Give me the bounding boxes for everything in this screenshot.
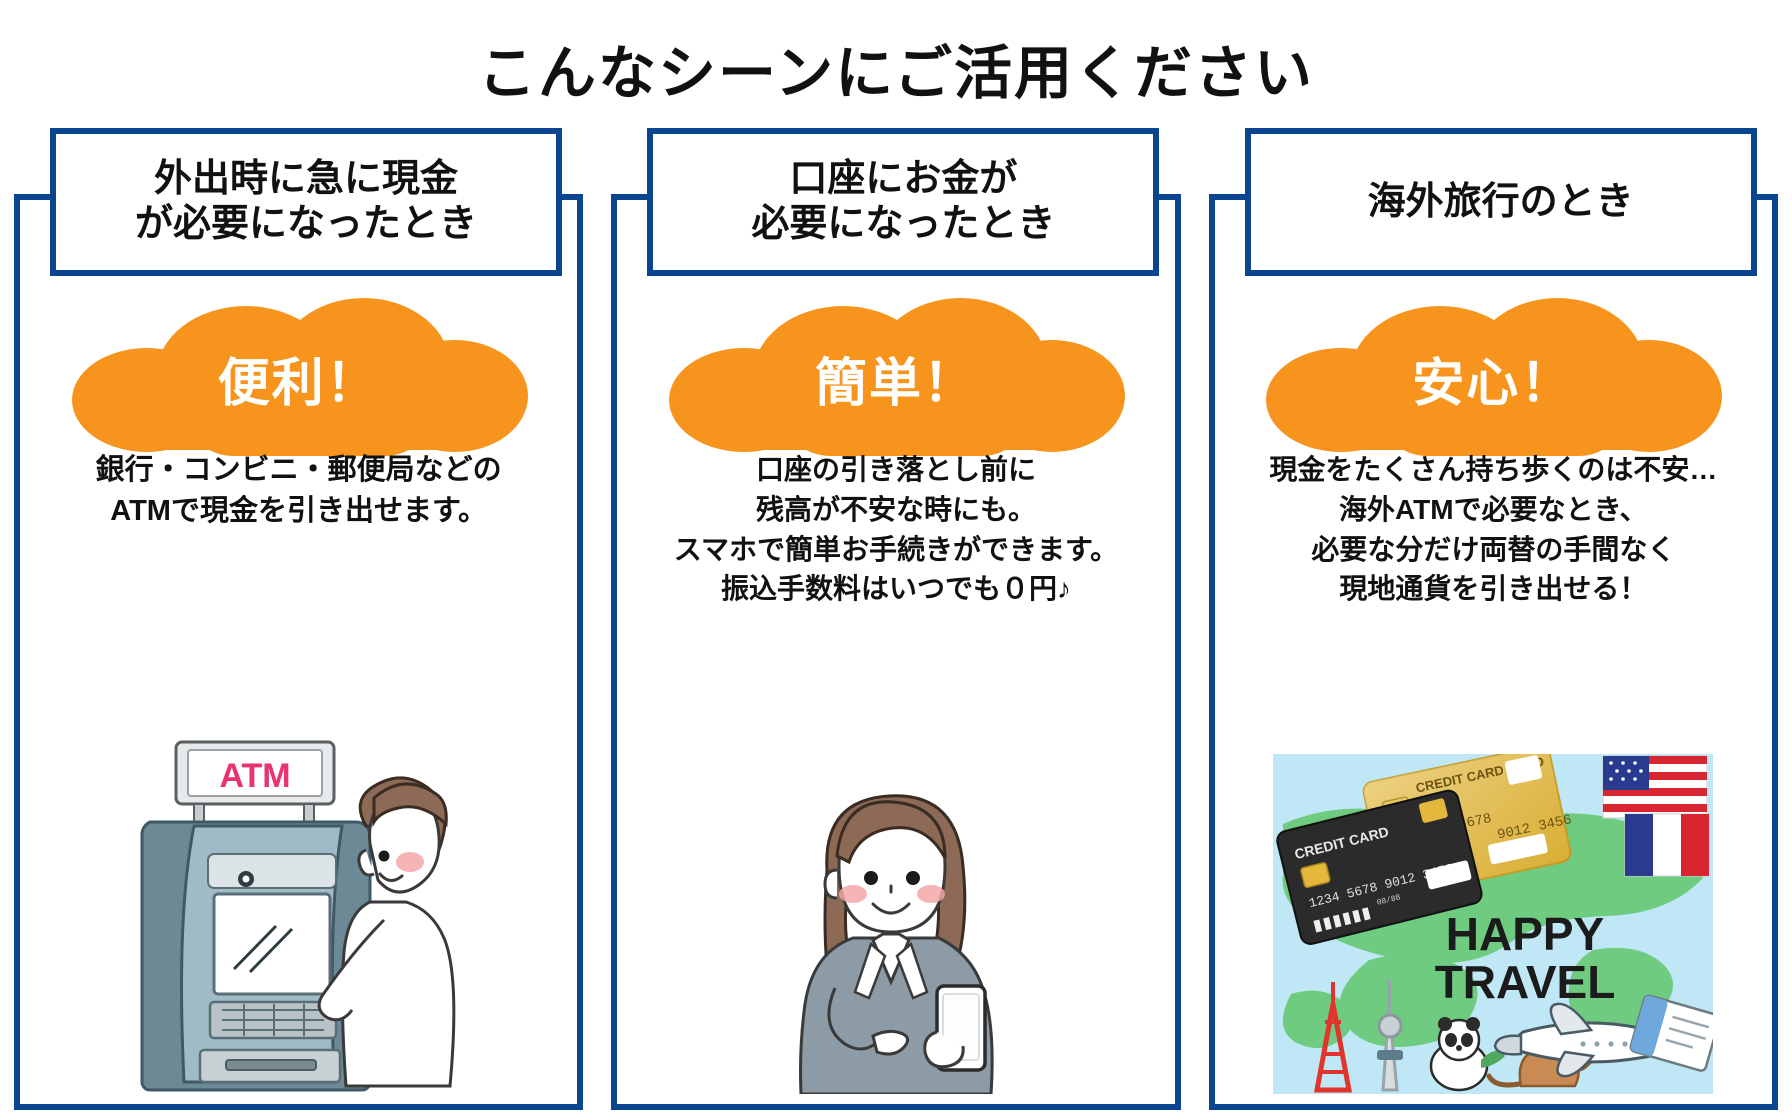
panel-atm-cash: 外出時に急に現金 が必要になったとき 便利！ 銀行・コンビニ・郵便局などの AT… <box>14 200 583 1110</box>
panel-header-text: 海外旅行のとき <box>1368 180 1634 225</box>
atm-machine-body <box>142 822 370 1090</box>
atm-sign-icon: ATM <box>176 742 334 822</box>
panel-body-text: 現金をたくさん持ち歩くのは不安… 海外ATMで必要なとき、 必要な分だけ両替の手… <box>1215 450 1772 609</box>
panel-body-text: 銀行・コンビニ・郵便局などの ATMで現金を引き出せます。 <box>20 450 577 532</box>
usa-flag-icon <box>1603 756 1707 818</box>
svg-text:ATM: ATM <box>219 757 290 795</box>
panel-account-funds: 口座にお金が 必要になったとき 簡単！ 口座の引き落とし前に 残高が不安な時にも… <box>611 200 1180 1110</box>
woman-with-smartphone-illustration <box>761 774 1031 1094</box>
panel-header-text: 外出時に急に現金 が必要になったとき <box>135 157 477 247</box>
panel-header-box: 海外旅行のとき <box>1245 128 1757 276</box>
travel-headline-line1: HAPPY <box>1446 908 1604 960</box>
panel-header-text: 口座にお金が 必要になったとき <box>751 157 1055 247</box>
atm-illustration: ATM <box>134 734 464 1094</box>
cloud-badge: 便利！ <box>64 296 534 446</box>
panels-container: 外出時に急に現金 が必要になったとき 便利！ 銀行・コンビニ・郵便局などの AT… <box>14 200 1778 1110</box>
cloud-badge: 安心！ <box>1258 296 1728 446</box>
cloud-badge-label: 便利！ <box>64 296 534 446</box>
france-flag-icon <box>1625 814 1709 876</box>
page-title: こんなシーンにご活用ください <box>0 26 1792 110</box>
cloud-badge-label: 簡単！ <box>661 296 1131 446</box>
panel-overseas-travel: 海外旅行のとき 安心！ 現金をたくさん持ち歩くのは不安… 海外ATMで必要なとき… <box>1209 200 1778 1110</box>
infographic-root: こんなシーンにご活用ください 外出時に急に現金 が必要になったとき 便利！ 銀行… <box>0 0 1792 1120</box>
panel-header-box: 外出時に急に現金 が必要になったとき <box>50 128 562 276</box>
cloud-badge-label: 安心！ <box>1258 296 1728 446</box>
panel-top-rail-left <box>1209 194 1247 200</box>
panel-top-rail-left <box>611 194 649 200</box>
panel-top-rail-left <box>14 194 52 200</box>
cloud-badge: 簡単！ <box>661 296 1131 446</box>
panel-body-text: 口座の引き落とし前に 残高が不安な時にも。 スマホで簡単お手続きができます。 振… <box>617 450 1174 609</box>
travel-headline-line2: TRAVEL <box>1435 956 1616 1008</box>
happy-travel-illustration: HAPPY TRAVEL CREDIT CARD GOLD 1234 5678 … <box>1273 754 1713 1094</box>
panel-header-box: 口座にお金が 必要になったとき <box>647 128 1159 276</box>
